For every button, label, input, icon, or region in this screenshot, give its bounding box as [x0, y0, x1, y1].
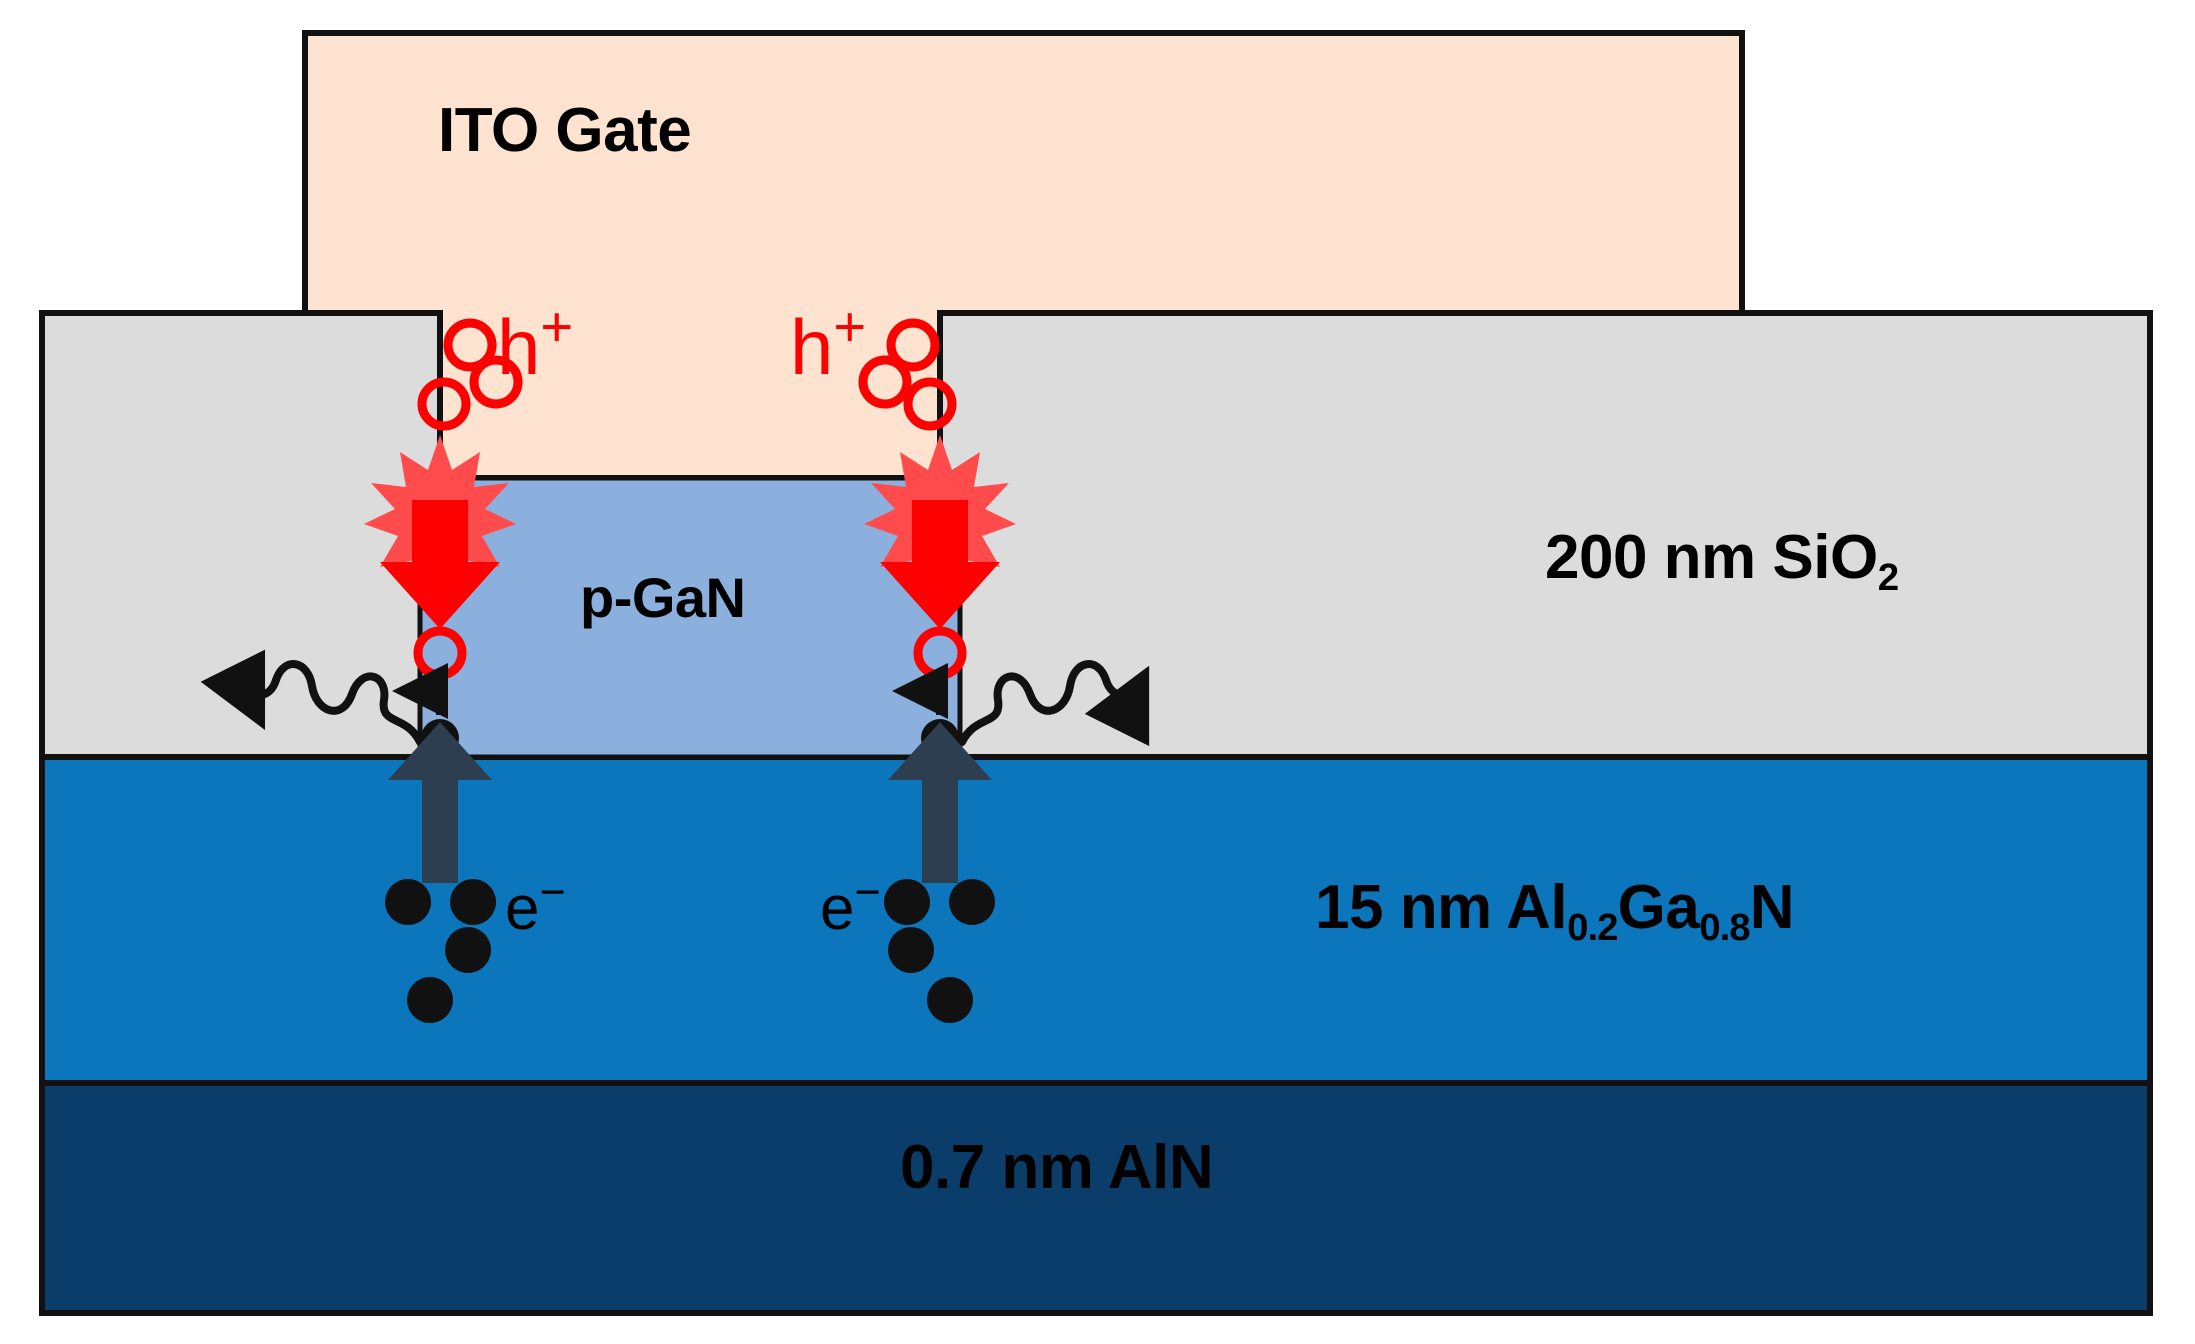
layer-algan — [42, 757, 2150, 1083]
label-sio2-subscript: 2 — [1878, 556, 1898, 599]
label-electron-right-char: e — [820, 874, 854, 943]
label-sio2: 200 nm SiO2 — [1545, 527, 1898, 589]
label-algan-subscript-a: 0.2 — [1567, 906, 1617, 949]
device-cross-section-figure: ITO Gate 200 nm SiO2 p-GaN 15 nm Al0.2Ga… — [0, 0, 2195, 1344]
electron-dot — [949, 879, 995, 925]
label-electron-left-charge: − — [539, 868, 565, 917]
label-hole-right: h+ — [790, 308, 866, 386]
electron-dot — [884, 879, 930, 925]
label-hole-left-charge: + — [540, 295, 573, 358]
label-electron-left-char: e — [505, 874, 539, 943]
electron-dot — [445, 927, 491, 973]
label-hole-left-char: h — [497, 303, 540, 391]
label-ito-gate: ITO Gate — [438, 100, 691, 162]
label-p-gan: p-GaN — [580, 570, 746, 626]
electron-dot — [450, 879, 496, 925]
electron-dot — [407, 977, 453, 1023]
label-electron-right: e− — [820, 878, 881, 940]
electron-dot — [888, 927, 934, 973]
label-algan: 15 nm Al0.2Ga0.8N — [1315, 877, 1794, 939]
label-aln: 0.7 nm AlN — [900, 1137, 1213, 1199]
electron-dot — [927, 977, 973, 1023]
label-hole-left: h+ — [497, 308, 573, 386]
label-algan-part-c: N — [1750, 873, 1794, 942]
label-electron-right-charge: − — [854, 868, 880, 917]
electron-dot — [385, 879, 431, 925]
label-algan-subscript-b: 0.8 — [1699, 906, 1749, 949]
label-hole-right-char: h — [790, 303, 833, 391]
label-algan-part-b: Ga — [1618, 873, 1700, 942]
label-algan-part-a: 15 nm Al — [1315, 873, 1567, 942]
label-sio2-text: 200 nm SiO — [1545, 523, 1878, 592]
label-hole-right-charge: + — [833, 295, 866, 358]
label-electron-left: e− — [505, 878, 566, 940]
